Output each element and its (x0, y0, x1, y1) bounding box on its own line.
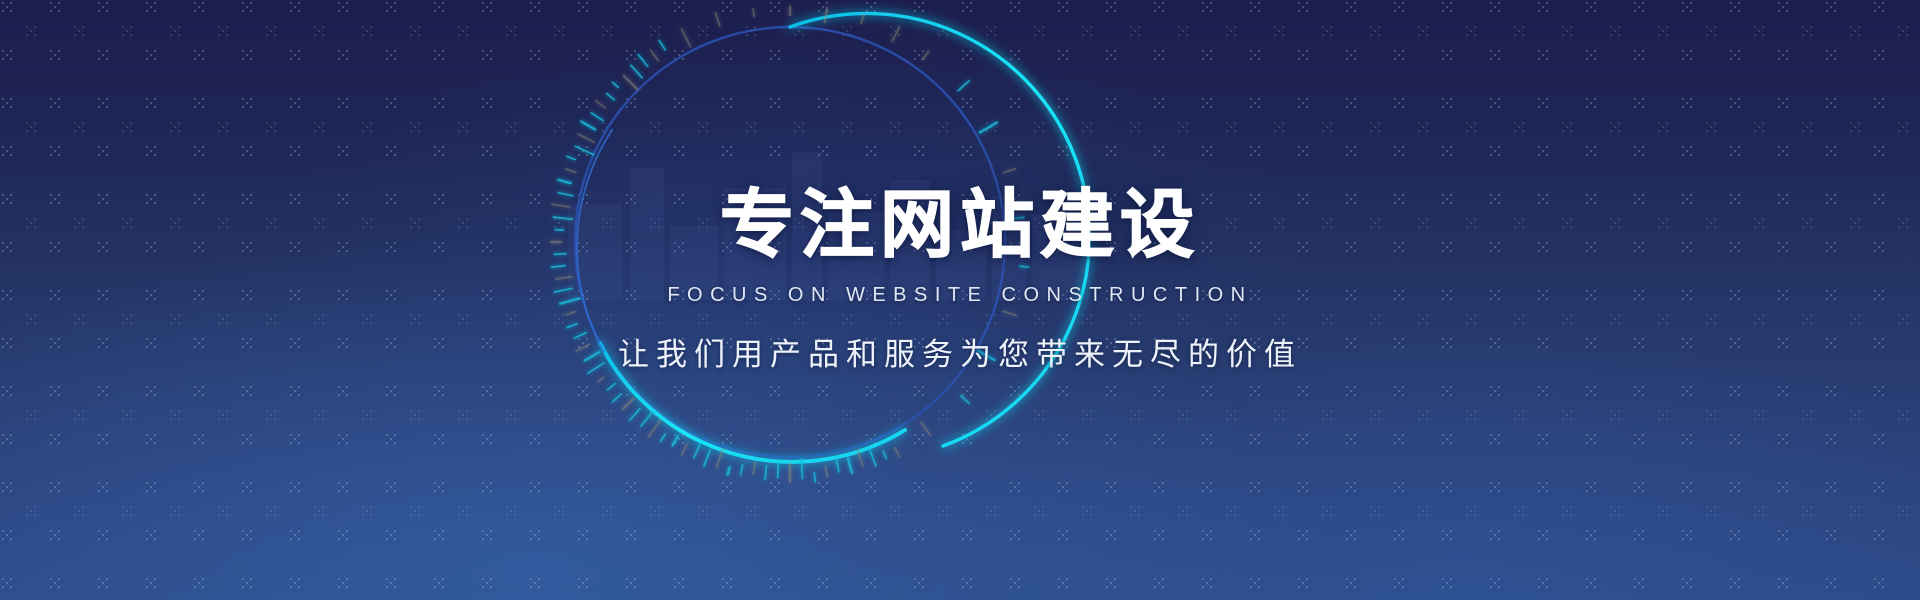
banner-content: 专注网站建设 FOCUS ON WEBSITE CONSTRUCTION 让我们… (0, 0, 1920, 600)
tagline: 让我们用产品和服务为您带来无尽的价值 (618, 329, 1302, 374)
subtitle-english: FOCUS ON WEBSITE CONSTRUCTION (667, 284, 1252, 307)
hero-banner: 专注网站建设 FOCUS ON WEBSITE CONSTRUCTION 让我们… (0, 0, 1920, 600)
page-title: 专注网站建设 (720, 188, 1200, 262)
